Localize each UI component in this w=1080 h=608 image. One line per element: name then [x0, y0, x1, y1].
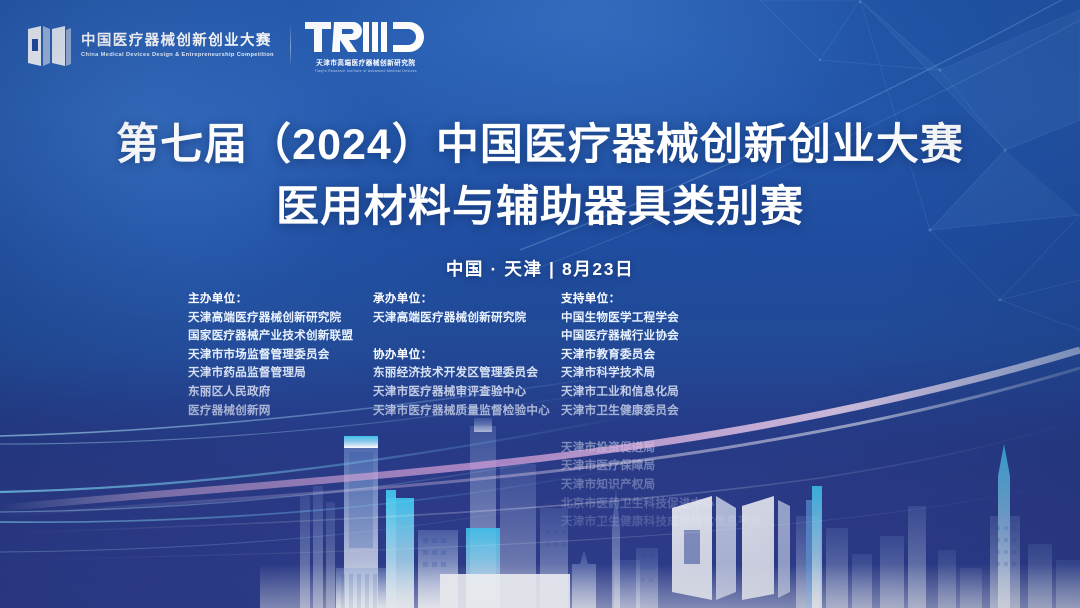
support-item: 中国医疗器械行业协会 — [561, 327, 694, 346]
support-heading: 支持单位： — [561, 290, 694, 309]
organizations-block: 主办单位： 天津高端医疗器械创新研究院 国家医疗器械产业技术创新联盟 天津市市场… — [188, 290, 948, 532]
host-item: 医疗器械创新网 — [188, 402, 373, 421]
support-item: 天津市医疗保障局 — [561, 457, 776, 476]
host-item: 天津市药品监督管理局 — [188, 364, 373, 383]
support-item: 天津市卫生健康科技成果转化信息平台 — [561, 513, 776, 532]
host-item: 国家医疗器械产业技术创新联盟 — [188, 327, 373, 346]
org-column-support: 支持单位： 中国生物医学工程学会 中国医疗器械行业协会 天津市教育委员会 天津市… — [561, 290, 776, 532]
event-location-date: 中国 · 天津 | 8月23日 — [0, 256, 1080, 281]
support-subcolumn-right: 天津市投资促进局 天津市医疗保障局 天津市知识产权局 北京市医药卫生科技促进中心… — [561, 420, 776, 532]
host-heading: 主办单位： — [188, 290, 373, 309]
host-item: 东丽区人民政府 — [188, 383, 373, 402]
coorganizer-item: 天津市医疗器械审评查验中心 — [373, 383, 561, 402]
org-column-organizer: 承办单位： 天津高端医疗器械创新研究院 协办单位： 东丽经济技术开发区管理委员会… — [373, 290, 561, 420]
coorganizer-heading: 协办单位： — [373, 346, 561, 365]
support-item: 中国生物医学工程学会 — [561, 309, 694, 328]
trmd-title-cn: 天津市高端医疗器械创新研究院 — [316, 57, 415, 67]
logo-title-en: China Medical Devices Design & Entrepren… — [81, 52, 276, 59]
trmd-title-en: Tianjin Research Institute of Advanced M… — [315, 69, 417, 73]
trmd-wordmark-icon — [305, 20, 427, 54]
support-item: 天津市工业和信息化局 — [561, 383, 694, 402]
logo-text-block: 中国医疗器械创新创业大赛 China Medical Devices Desig… — [81, 33, 272, 59]
logo-title-cn: 中国医疗器械创新创业大赛 — [81, 33, 272, 50]
support-item: 北京市医药卫生科技促进中心 — [561, 495, 776, 514]
support-subcolumn-left: 支持单位： 中国生物医学工程学会 中国医疗器械行业协会 天津市教育委员会 天津市… — [561, 290, 694, 420]
logo-group: 中国医疗器械创新创业大赛 China Medical Devices Desig… — [0, 20, 427, 73]
china-medical-devices-competition-logo: 中国医疗器械创新创业大赛 China Medical Devices Desig… — [26, 25, 272, 67]
support-item: 天津市知识产权局 — [561, 476, 776, 495]
host-item: 天津高端医疗器械创新研究院 — [188, 309, 373, 328]
support-item: 天津市卫生健康委员会 — [561, 402, 694, 421]
open-door-emblem-icon — [26, 25, 72, 67]
org-spacer — [561, 420, 776, 439]
organizer-item: 天津高端医疗器械创新研究院 — [373, 309, 561, 328]
poster-title: 第七届（2024）中国医疗器械创新创业大赛 医用材料与辅助器具类别赛 — [0, 118, 1080, 234]
support-item: 天津市投资促进局 — [561, 439, 776, 458]
title-line-2: 医用材料与辅助器具类别赛 — [0, 180, 1080, 234]
event-poster: 中国医疗器械创新创业大赛 China Medical Devices Desig… — [0, 0, 1080, 608]
support-item: 天津市科学技术局 — [561, 364, 694, 383]
logo-divider — [290, 24, 291, 68]
title-line-1: 第七届（2024）中国医疗器械创新创业大赛 — [0, 118, 1080, 172]
trmd-logo: 天津市高端医疗器械创新研究院 Tianjin Research Institut… — [305, 20, 427, 73]
host-item: 天津市市场监督管理委员会 — [188, 346, 373, 365]
org-spacer — [373, 327, 561, 346]
org-column-host: 主办单位： 天津高端医疗器械创新研究院 国家医疗器械产业技术创新联盟 天津市市场… — [188, 290, 373, 420]
coorganizer-item: 东丽经济技术开发区管理委员会 — [373, 364, 561, 383]
support-item: 天津市教育委员会 — [561, 346, 694, 365]
coorganizer-item: 天津市医疗器械质量监督检验中心 — [373, 402, 561, 421]
organizer-heading: 承办单位： — [373, 290, 561, 309]
poster-header: 中国医疗器械创新创业大赛 China Medical Devices Desig… — [0, 0, 1080, 92]
